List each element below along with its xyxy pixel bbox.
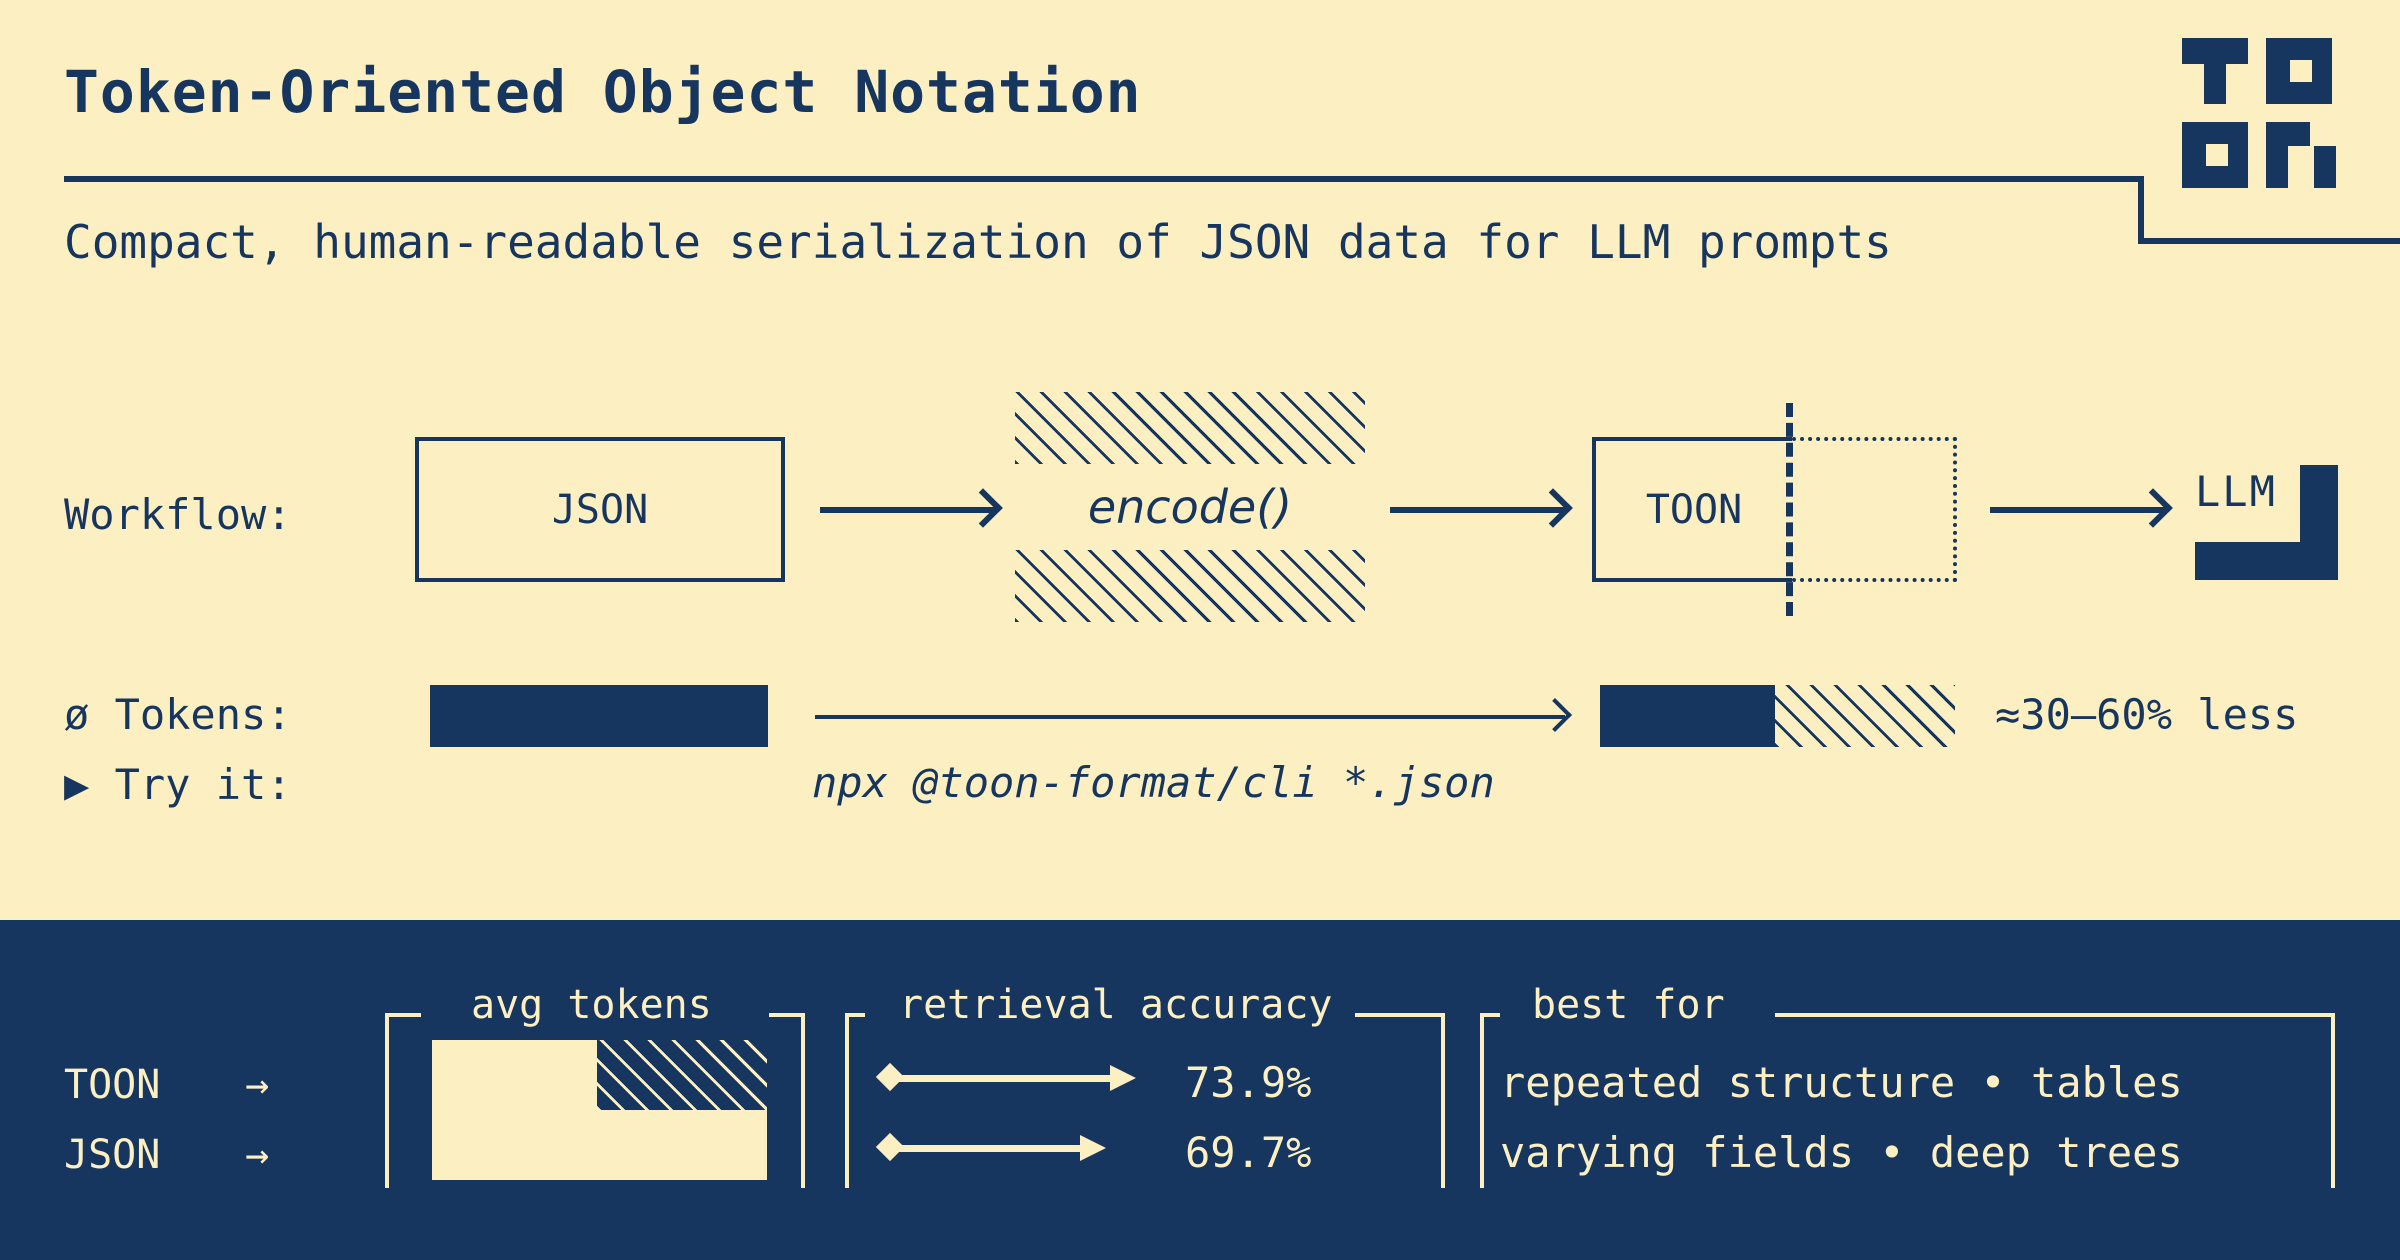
- tokens-savings-label: ≈30–60% less: [1995, 690, 2298, 739]
- workflow-step-toon-ghost: [1792, 437, 1957, 582]
- page-title: Token-Oriented Object Notation: [64, 58, 1142, 126]
- logo-letter-n-icon: [2266, 122, 2332, 188]
- retrieval-accuracy-group: retrieval accuracy: [845, 1013, 1445, 1188]
- retrieval-accuracy-legend: retrieval accuracy: [885, 982, 1346, 1028]
- page-subtitle: Compact, human-readable serialization of…: [64, 215, 1892, 269]
- tokens-label: ø Tokens:: [64, 690, 292, 739]
- workflow-step-encode: encode(): [1015, 392, 1365, 622]
- stats-row-label-toon: TOON: [64, 1062, 160, 1108]
- workflow-arrow-1-icon: [820, 507, 995, 513]
- best-for-line-toon: repeated structure • tables: [1500, 1058, 2183, 1107]
- toon-split-divider-icon: [1786, 403, 1793, 616]
- workflow-step-llm: LLM: [2195, 465, 2335, 580]
- logo-letter-o2-icon: [2182, 122, 2248, 188]
- workflow-step-encode-label: encode(): [1015, 464, 1365, 550]
- llm-bracket-bottom-icon: [2195, 542, 2338, 580]
- tokens-bar-toon-solid: [1600, 685, 1775, 747]
- toon-logo: [2182, 38, 2332, 188]
- header-divider-step: [2138, 176, 2144, 244]
- hatch-band-top: [1015, 392, 1365, 464]
- stats-row-arrow-json-icon: →: [245, 1132, 269, 1178]
- cli-command[interactable]: npx @toon-format/cli *.json: [812, 758, 1495, 807]
- logo-letter-t-icon: [2182, 38, 2248, 104]
- accuracy-value-json: 69.7%: [1185, 1128, 1311, 1177]
- workflow-step-toon: TOON: [1592, 437, 1792, 582]
- workflow-arrow-2-icon: [1390, 507, 1565, 513]
- tokens-bar-toon-savings: [1775, 685, 1955, 747]
- workflow-step-json-label: JSON: [552, 487, 648, 533]
- tokens-bar-json: [430, 685, 768, 747]
- workflow-label: Workflow:: [64, 490, 292, 539]
- accuracy-value-toon: 73.9%: [1185, 1058, 1311, 1107]
- workflow-step-json: JSON: [415, 437, 785, 582]
- stats-row-label-json: JSON: [64, 1132, 160, 1178]
- workflow-step-toon-label: TOON: [1646, 487, 1742, 533]
- logo-letter-o-icon: [2266, 38, 2332, 104]
- try-it-label[interactable]: ▶ Try it:: [64, 760, 292, 809]
- stats-row-arrow-toon-icon: →: [245, 1062, 269, 1108]
- header-divider-tail: [2138, 238, 2400, 244]
- avg-tokens-bar-toon-solid: [432, 1040, 597, 1110]
- header-divider: [64, 176, 2144, 182]
- infographic-canvas: Token-Oriented Object Notation Compact, …: [0, 0, 2400, 1260]
- workflow-step-llm-label: LLM: [2195, 467, 2277, 516]
- hatch-band-bottom: [1015, 550, 1365, 622]
- avg-tokens-bar-json: [432, 1110, 767, 1180]
- best-for-legend: best for: [1518, 982, 1739, 1028]
- best-for-line-json: varying fields • deep trees: [1500, 1128, 2183, 1177]
- workflow-arrow-3-icon: [1990, 507, 2165, 513]
- avg-tokens-bar-toon-savings: [597, 1040, 767, 1110]
- avg-tokens-legend: avg tokens: [457, 982, 726, 1028]
- tokens-savings-arrow-icon: [815, 715, 1565, 719]
